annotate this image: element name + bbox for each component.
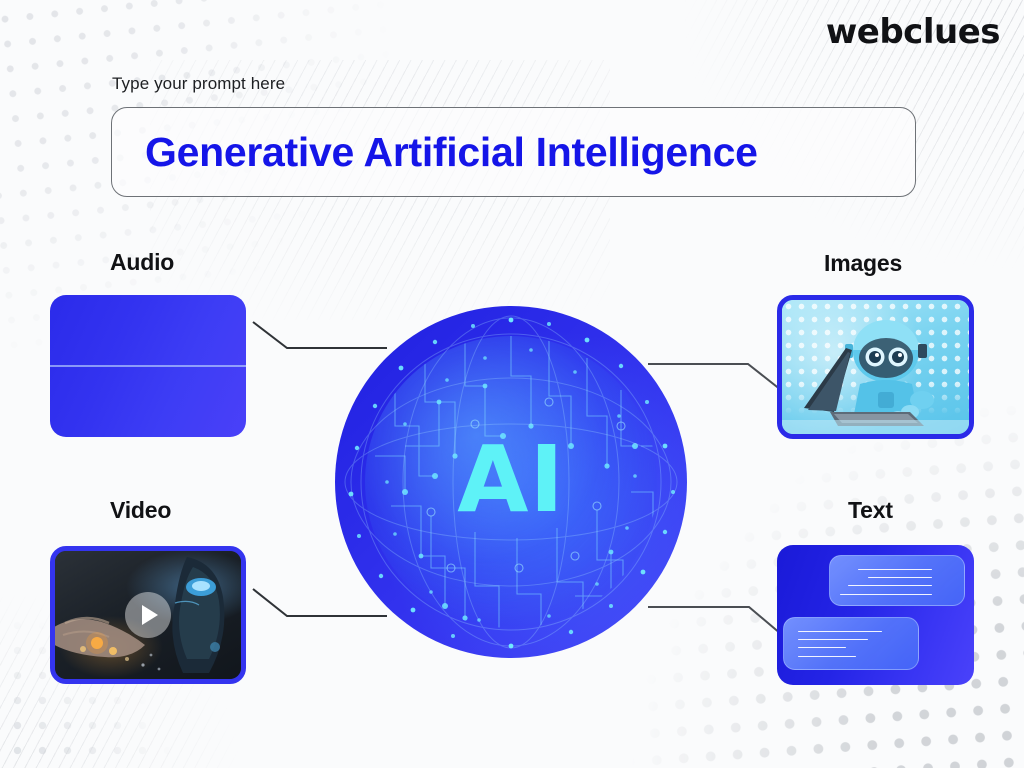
- prompt-input[interactable]: Generative Artificial Intelligence: [111, 107, 916, 197]
- ai-sphere-label: AI: [335, 434, 687, 526]
- card-video[interactable]: [50, 546, 246, 684]
- chat-bubble-outgoing: [783, 617, 919, 670]
- play-button-icon[interactable]: [125, 592, 171, 638]
- node-label-images: Images: [824, 250, 902, 277]
- chat-bubbles-icon: [777, 545, 974, 685]
- prompt-input-value: Generative Artificial Intelligence: [145, 129, 758, 176]
- audio-waveform-icon: [50, 295, 246, 437]
- node-label-video: Video: [110, 497, 171, 524]
- card-audio[interactable]: [50, 295, 246, 437]
- webclues-logo: webclues: [826, 12, 1000, 52]
- prompt-label: Type your prompt here: [112, 74, 285, 94]
- node-label-text: Text: [848, 497, 893, 524]
- video-thumbnail: [55, 551, 241, 679]
- card-images[interactable]: [777, 295, 974, 439]
- infographic-canvas: webclues Type your prompt here Generativ…: [0, 0, 1024, 768]
- chat-bubble-incoming: [829, 555, 965, 606]
- ai-sphere-icon[interactable]: AI: [335, 306, 687, 658]
- node-label-audio: Audio: [110, 249, 174, 276]
- robot-laptop-image-icon: [782, 300, 969, 434]
- card-text[interactable]: [777, 545, 974, 685]
